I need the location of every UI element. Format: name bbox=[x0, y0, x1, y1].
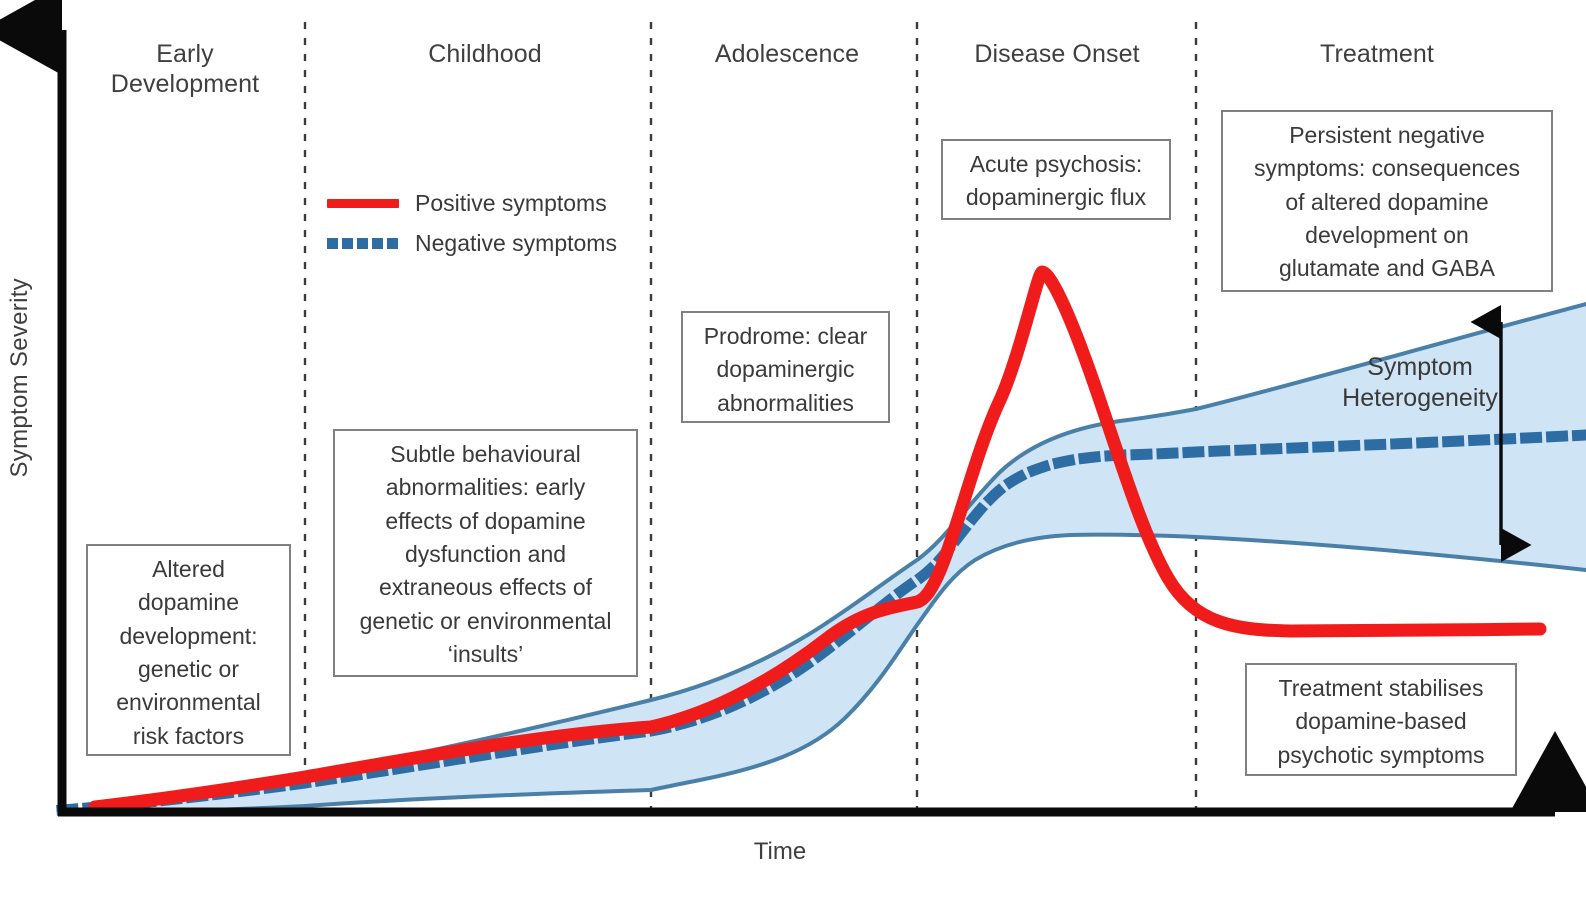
legend-swatch-negative-line bbox=[327, 238, 399, 249]
callout-altered-dopamine-development: Altered dopamine development: genetic or… bbox=[86, 544, 291, 756]
y-axis-title: Symptom Severity bbox=[6, 278, 46, 478]
phase-label-treatment: Treatment bbox=[1282, 40, 1472, 70]
x-axis-title: Time bbox=[700, 838, 860, 866]
legend-swatch-positive-line bbox=[327, 199, 399, 208]
callout-acute-psychosis: Acute psychosis: dopaminergic flux bbox=[941, 139, 1171, 220]
callout-subtle-behavioural-abnormalities: Subtle behavioural abnormalities: early … bbox=[333, 429, 638, 677]
phase-label-childhood: Childhood bbox=[390, 40, 580, 70]
callout-treatment-stabilises: Treatment stabilises dopamine-based psyc… bbox=[1245, 663, 1517, 776]
legend-label-positive-symptoms: Positive symptoms bbox=[415, 190, 607, 217]
figure-canvas: Early Development Childhood Adolescence … bbox=[0, 0, 1586, 908]
legend-item-negative-symptoms: Negative symptoms bbox=[327, 223, 627, 263]
phase-label-adolescence: Adolescence bbox=[692, 40, 882, 70]
heterogeneity-label: Symptom Heterogeneity bbox=[1330, 352, 1510, 415]
phase-label-disease-onset: Disease Onset bbox=[962, 40, 1152, 70]
legend-label-negative-symptoms: Negative symptoms bbox=[415, 230, 617, 257]
phase-label-early-development: Early Development bbox=[95, 40, 275, 99]
legend: Positive symptoms Negative symptoms bbox=[327, 183, 627, 263]
callout-persistent-negative-symptoms: Persistent negative symptoms: consequenc… bbox=[1221, 110, 1553, 292]
legend-item-positive-symptoms: Positive symptoms bbox=[327, 183, 627, 223]
callout-prodrome: Prodrome: clear dopaminergic abnormaliti… bbox=[681, 311, 890, 423]
